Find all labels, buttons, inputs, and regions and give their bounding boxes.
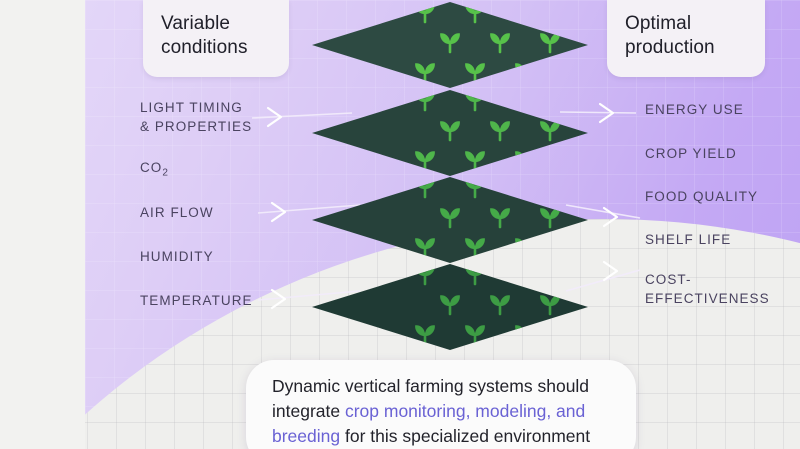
caption-box: Dynamic vertical farming systems should … — [246, 360, 636, 449]
output-label-crop-yield: CROP YIELD — [645, 144, 737, 163]
output-label-energy-use: ENERGY USE — [645, 100, 744, 119]
output-label-cost-effectiveness: COST- EFFECTIVENESS — [645, 270, 770, 308]
variable-conditions-header: Variable conditions — [143, 0, 289, 77]
output-label-cost-line1: COST- — [645, 270, 770, 289]
input-label-temperature: TEMPERATURE — [140, 291, 253, 310]
output-label-food-quality: FOOD QUALITY — [645, 187, 758, 206]
optimal-production-header: Optimal production — [607, 0, 765, 77]
optimal-production-line2: production — [625, 36, 747, 60]
input-label-air-flow: AIR FLOW — [140, 203, 214, 222]
optimal-production-line1: Optimal — [625, 12, 747, 36]
output-label-cost-line2: EFFECTIVENESS — [645, 289, 770, 308]
output-label-shelf-life: SHELF LIFE — [645, 230, 731, 249]
infographic-canvas: Variable conditions Optimal production L… — [0, 0, 800, 449]
input-label-co2-text: CO — [140, 160, 162, 175]
input-label-humidity: HUMIDITY — [140, 247, 214, 266]
variable-conditions-line2: conditions — [161, 36, 271, 60]
input-label-light-timing-line2: & PROPERTIES — [140, 117, 252, 136]
variable-conditions-line1: Variable — [161, 12, 271, 36]
input-label-co2: CO2 — [140, 158, 169, 181]
input-label-light-timing: LIGHT TIMING & PROPERTIES — [140, 98, 252, 136]
caption-text-part2: for this specialized environment — [340, 426, 590, 446]
input-label-light-timing-line1: LIGHT TIMING — [140, 98, 252, 117]
input-label-co2-subscript: 2 — [162, 168, 169, 179]
